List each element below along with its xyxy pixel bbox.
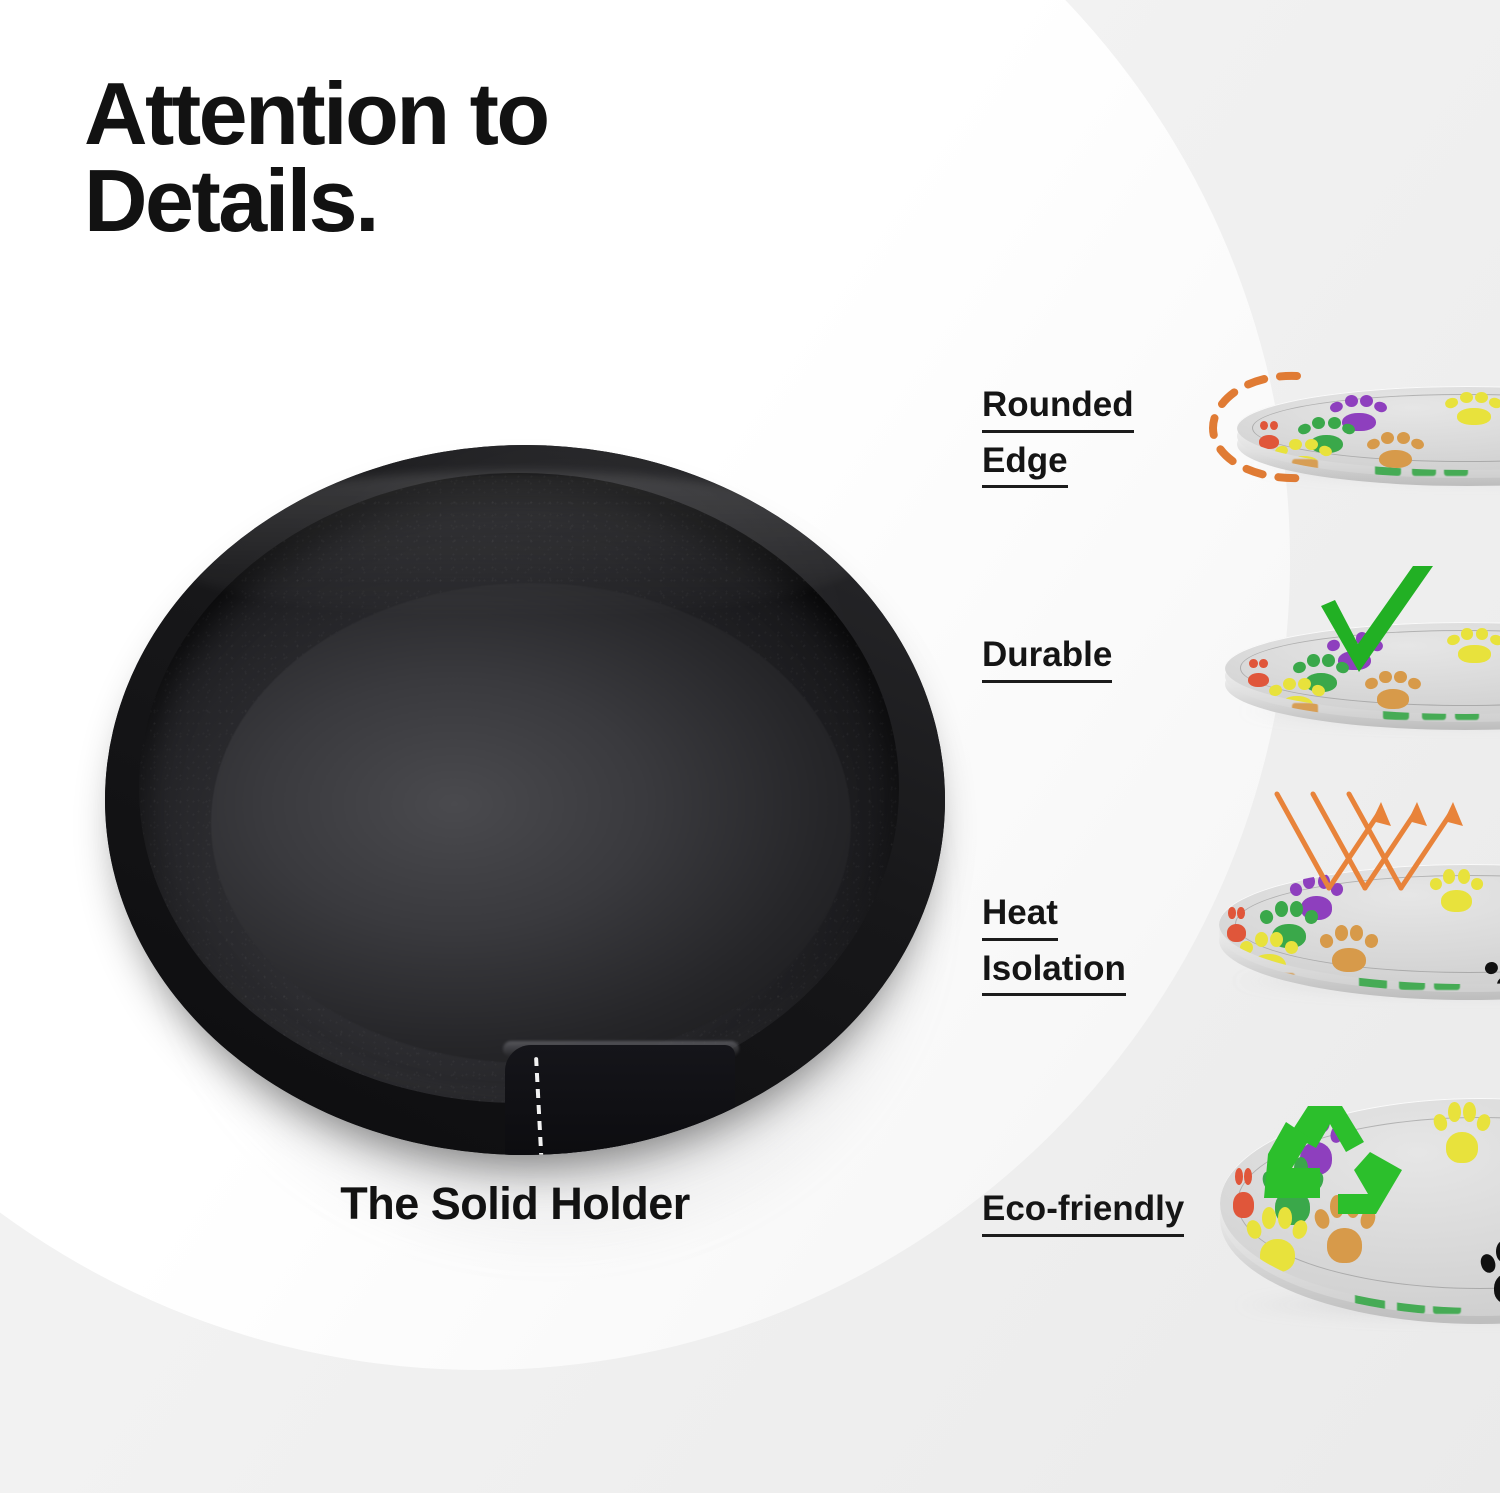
feature-label-eco-friendly: Eco-friendly xyxy=(982,1186,1184,1242)
feature-label-heat-isolation: Heat Isolation xyxy=(982,890,1126,1001)
holder-body xyxy=(105,445,945,1155)
recycle-icon xyxy=(1246,1098,1426,1248)
green-checkmark-icon xyxy=(1313,562,1441,684)
holder-rim-highlight xyxy=(155,471,875,621)
coaster-thumbnail xyxy=(1237,386,1500,470)
holder-caption: The Solid Holder xyxy=(0,1178,1030,1230)
coaster-art-rounded-edge xyxy=(1205,368,1500,488)
title-line-1: Attention to xyxy=(84,64,548,163)
feature-label-durable: Durable xyxy=(982,632,1112,688)
coaster-art-heat-isolation xyxy=(1215,788,1500,1000)
holder-image xyxy=(85,425,965,1185)
heat-reflect-arrows-icon xyxy=(1271,788,1500,914)
infographic-canvas: Attention to Details. The Solid Holder xyxy=(0,0,1500,1493)
holder-stitching-curve xyxy=(545,965,925,1155)
title-line-2: Details. xyxy=(84,157,724,244)
coaster-art-durable xyxy=(1205,566,1500,726)
feature-label-rounded-edge: Rounded Edge xyxy=(982,382,1134,493)
coaster-top-surface xyxy=(1237,386,1500,470)
page-title: Attention to Details. xyxy=(84,70,724,244)
coaster-art-eco-friendly xyxy=(1220,1088,1500,1313)
